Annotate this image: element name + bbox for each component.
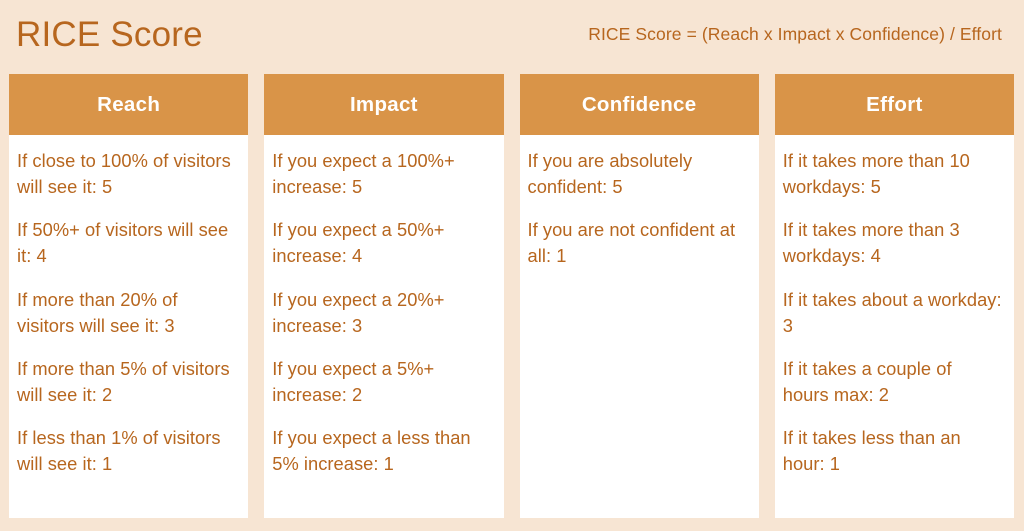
column-header-impact: Impact — [264, 74, 503, 135]
column-impact: Impact If you expect a 100%+ increase: 5… — [264, 74, 503, 518]
table-cell: If more than 20% of visitors will see it… — [17, 287, 236, 339]
column-body-confidence: If you are absolutely confident: 5 If yo… — [520, 135, 759, 518]
column-header-reach: Reach — [9, 74, 248, 135]
column-header-effort: Effort — [775, 74, 1014, 135]
rice-score-page: RICE Score RICE Score = (Reach x Impact … — [0, 0, 1024, 531]
table-cell: If you expect a 5%+ increase: 2 — [272, 356, 491, 408]
table-cell: If 50%+ of visitors will see it: 4 — [17, 217, 236, 269]
column-body-reach: If close to 100% of visitors will see it… — [9, 135, 248, 518]
table-cell: If it takes a couple of hours max: 2 — [783, 356, 1002, 408]
table-cell: If it takes more than 3 workdays: 4 — [783, 217, 1002, 269]
table-cell: If less than 1% of visitors will see it:… — [17, 425, 236, 477]
rice-table: Reach If close to 100% of visitors will … — [9, 74, 1014, 518]
column-confidence: Confidence If you are absolutely confide… — [520, 74, 759, 518]
column-body-impact: If you expect a 100%+ increase: 5 If you… — [264, 135, 503, 518]
table-cell: If it takes less than an hour: 1 — [783, 425, 1002, 477]
table-cell: If you are not confident at all: 1 — [528, 217, 747, 269]
table-cell: If you expect a 100%+ increase: 5 — [272, 148, 491, 200]
table-cell: If more than 5% of visitors will see it:… — [17, 356, 236, 408]
rice-formula: RICE Score = (Reach x Impact x Confidenc… — [588, 24, 1002, 45]
page-title: RICE Score — [16, 17, 203, 52]
column-reach: Reach If close to 100% of visitors will … — [9, 74, 248, 518]
table-cell: If you expect a less than 5% increase: 1 — [272, 425, 491, 477]
table-cell: If you expect a 20%+ increase: 3 — [272, 287, 491, 339]
table-cell: If it takes about a workday: 3 — [783, 287, 1002, 339]
table-cell: If you expect a 50%+ increase: 4 — [272, 217, 491, 269]
column-header-confidence: Confidence — [520, 74, 759, 135]
column-effort: Effort If it takes more than 10 workdays… — [775, 74, 1014, 518]
table-cell: If close to 100% of visitors will see it… — [17, 148, 236, 200]
table-cell: If you are absolutely confident: 5 — [528, 148, 747, 200]
column-body-effort: If it takes more than 10 workdays: 5 If … — [775, 135, 1014, 518]
table-cell: If it takes more than 10 workdays: 5 — [783, 148, 1002, 200]
page-header: RICE Score RICE Score = (Reach x Impact … — [0, 0, 1024, 68]
